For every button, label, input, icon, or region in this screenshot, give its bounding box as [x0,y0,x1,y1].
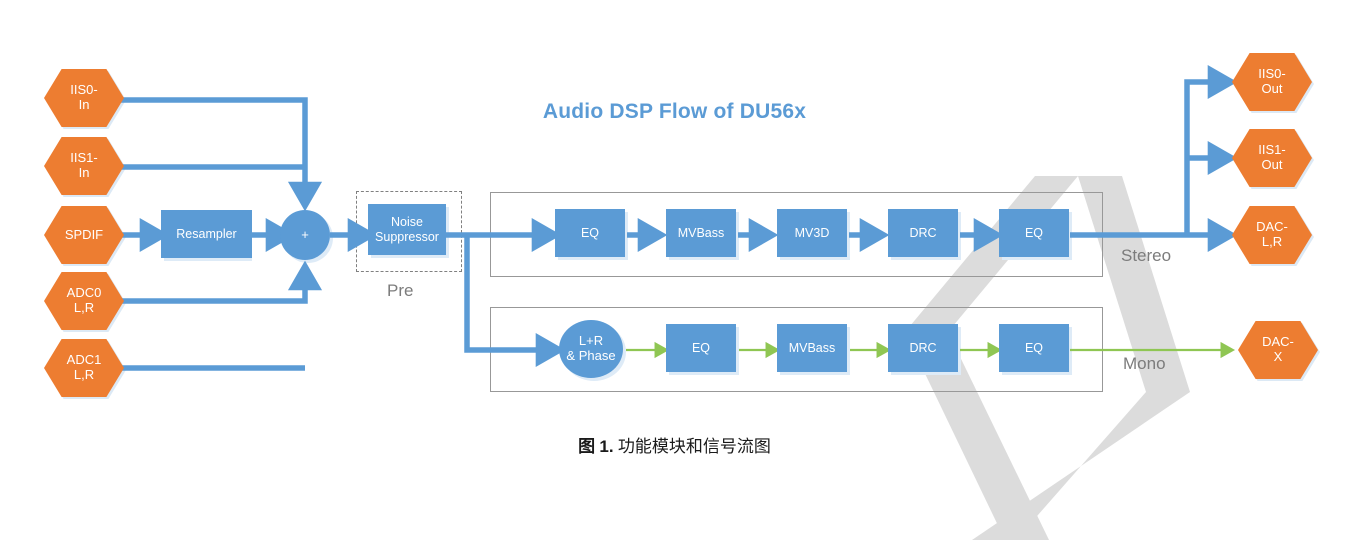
process-mono-eq-2[interactable]: EQ [999,324,1069,372]
stage-label: EQ [581,226,599,240]
input-label-line2: L,R [67,368,102,383]
output-label-line2: Out [1258,158,1285,173]
output-label-line2: X [1262,350,1294,365]
stage-label: MVBass [678,226,725,240]
stage-label: EQ [1025,226,1043,240]
process-stereo-mvbass[interactable]: MVBass [666,209,736,257]
mono-mixer-label-line2: & Phase [566,349,615,364]
noise-suppressor-label-line1: Noise [375,215,439,229]
pre-group-label: Pre [387,281,413,301]
input-label-line1: SPDIF [65,228,103,243]
page-title: Audio DSP Flow of DU56x [0,100,1349,124]
stage-label: EQ [692,341,710,355]
output-label-line1: IIS0- [1258,67,1285,82]
summing-node-label: + [301,228,309,243]
output-label-line2: Out [1258,82,1285,97]
signal-wires [0,0,1349,540]
stage-label: MVBass [789,341,836,355]
stage-label: MV3D [795,226,830,240]
input-label-line1: IIS1- [70,151,97,166]
caption-prefix: 图 [578,437,595,456]
caption-text: 功能模块和信号流图 [618,437,771,456]
stereo-group-label: Stereo [1121,246,1171,266]
input-label-line1: IIS0- [70,83,97,98]
process-mono-lr-phase-mixer[interactable]: L+R & Phase [559,320,623,378]
process-stereo-mv3d[interactable]: MV3D [777,209,847,257]
input-label-line2: In [70,98,97,113]
process-mono-drc[interactable]: DRC [888,324,958,372]
process-resampler[interactable]: Resampler [161,210,252,258]
caption-number: 1 [599,437,608,456]
process-stereo-drc[interactable]: DRC [888,209,958,257]
output-label-line1: IIS1- [1258,143,1285,158]
input-label-line2: L,R [67,301,102,316]
process-stereo-eq-2[interactable]: EQ [999,209,1069,257]
mono-group-label: Mono [1123,354,1166,374]
output-label-line2: L,R [1256,235,1288,250]
stage-label: DRC [909,226,936,240]
stage-label: EQ [1025,341,1043,355]
output-label-line1: DAC- [1262,335,1294,350]
process-noise-suppressor[interactable]: Noise Suppressor [368,204,446,255]
process-stereo-eq-1[interactable]: EQ [555,209,625,257]
input-label-line1: ADC1 [67,353,102,368]
output-label-line1: DAC- [1256,220,1288,235]
stage-label: DRC [909,341,936,355]
process-mono-eq-1[interactable]: EQ [666,324,736,372]
summing-node[interactable]: + [280,210,330,260]
noise-suppressor-label-line2: Suppressor [375,230,439,244]
input-label-line2: In [70,166,97,181]
audio-dsp-flow-diagram: Audio DSP Flow of DU56x [0,0,1349,540]
figure-caption: 图 1. 功能模块和信号流图 [0,432,1349,457]
resampler-label: Resampler [176,227,236,241]
process-mono-mvbass[interactable]: MVBass [777,324,847,372]
input-label-line1: ADC0 [67,286,102,301]
mono-mixer-label-line1: L+R [566,334,615,349]
